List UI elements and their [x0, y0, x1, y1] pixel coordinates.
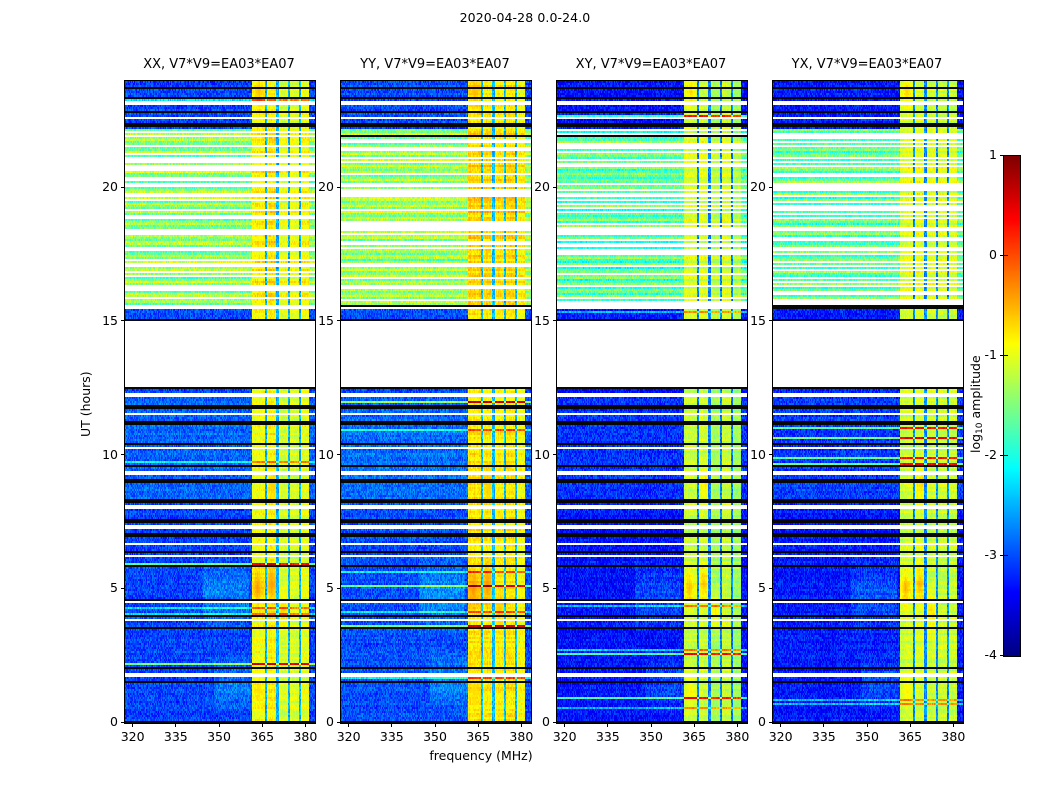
colorbar-gradient — [1004, 156, 1020, 656]
figure-canvas-area: 2020-04-28 0.0-24.0 UT (hours) frequency… — [0, 0, 1050, 800]
y-tick-mark — [553, 454, 557, 455]
y-tick-label: 15 — [292, 313, 334, 328]
panel-title-yx: YX, V7*V9=EA03*EA07 — [772, 57, 962, 72]
y-tick-mark — [337, 588, 341, 589]
y-tick-label: 0 — [292, 714, 334, 729]
x-tick-mark — [953, 723, 954, 727]
y-tick-label: 10 — [292, 447, 334, 462]
y-tick-mark — [337, 454, 341, 455]
y-tick-label: 5 — [508, 580, 550, 595]
figure-suptitle: 2020-04-28 0.0-24.0 — [0, 10, 1050, 25]
y-tick-label: 5 — [292, 580, 334, 595]
waterfall-panel-xx[interactable] — [124, 80, 316, 724]
x-tick-mark — [564, 723, 565, 727]
y-axis-label: UT (hours) — [78, 371, 93, 437]
y-tick-label: 20 — [76, 179, 118, 194]
y-tick-label: 20 — [724, 179, 766, 194]
waterfall-image-xy — [557, 81, 747, 723]
y-tick-mark — [553, 187, 557, 188]
x-tick-mark — [478, 723, 479, 727]
colorbar-tick-label: 1 — [955, 147, 997, 162]
waterfall-panel-yy[interactable] — [340, 80, 532, 724]
colorbar-label-base: 10 — [975, 422, 985, 433]
colorbar-tick-label: -3 — [955, 547, 997, 562]
colorbar-tick-mark — [1000, 455, 1004, 456]
y-tick-mark — [121, 187, 125, 188]
y-tick-mark — [769, 187, 773, 188]
colorbar-tick-mark — [1000, 155, 1004, 156]
x-tick-mark — [132, 723, 133, 727]
panel-title-xx: XX, V7*V9=EA03*EA07 — [124, 57, 314, 72]
x-tick-mark — [219, 723, 220, 727]
x-tick-mark — [867, 723, 868, 727]
y-tick-mark — [337, 722, 341, 723]
colorbar-tick-label: 0 — [955, 247, 997, 262]
y-tick-label: 20 — [508, 179, 550, 194]
colorbar-tick-mark-inner — [1004, 555, 1008, 556]
x-tick-mark — [175, 723, 176, 727]
colorbar-tick-mark-inner — [1004, 355, 1008, 356]
y-tick-mark — [337, 320, 341, 321]
x-tick-mark — [780, 723, 781, 727]
y-tick-mark — [121, 588, 125, 589]
y-tick-mark — [769, 588, 773, 589]
x-tick-mark — [262, 723, 263, 727]
colorbar-label-log: log — [968, 434, 983, 453]
colorbar-tick-mark-inner — [1004, 155, 1008, 156]
y-tick-mark — [769, 320, 773, 321]
y-tick-label: 5 — [76, 580, 118, 595]
y-tick-mark — [121, 320, 125, 321]
colorbar-tick-mark — [1000, 555, 1004, 556]
y-tick-mark — [769, 722, 773, 723]
y-tick-mark — [553, 588, 557, 589]
y-tick-label: 5 — [724, 580, 766, 595]
y-tick-label: 10 — [76, 447, 118, 462]
waterfall-image-yy — [341, 81, 531, 723]
colorbar-tick-mark-inner — [1004, 655, 1008, 656]
y-tick-mark — [769, 454, 773, 455]
y-tick-label: 0 — [724, 714, 766, 729]
colorbar-tick-mark — [1000, 655, 1004, 656]
colorbar-tick-mark — [1000, 355, 1004, 356]
y-tick-mark — [337, 187, 341, 188]
y-tick-mark — [553, 722, 557, 723]
y-tick-label: 15 — [76, 313, 118, 328]
x-tick-mark — [651, 723, 652, 727]
colorbar-label-amplitude: amplitude — [968, 355, 983, 422]
y-tick-label: 10 — [508, 447, 550, 462]
waterfall-image-yx — [773, 81, 963, 723]
x-tick-mark — [435, 723, 436, 727]
x-axis-label: frequency (MHz) — [0, 748, 962, 763]
x-tick-mark — [391, 723, 392, 727]
waterfall-panel-yx[interactable] — [772, 80, 964, 724]
y-tick-mark — [121, 454, 125, 455]
colorbar-tick-mark-inner — [1004, 455, 1008, 456]
waterfall-image-xx — [125, 81, 315, 723]
y-tick-label: 15 — [508, 313, 550, 328]
colorbar-tick-mark — [1000, 255, 1004, 256]
x-tick-mark — [823, 723, 824, 727]
y-tick-label: 20 — [292, 179, 334, 194]
colorbar[interactable] — [1003, 155, 1021, 657]
y-tick-label: 15 — [724, 313, 766, 328]
waterfall-panel-xy[interactable] — [556, 80, 748, 724]
colorbar-tick-label: -4 — [955, 647, 997, 662]
y-tick-label: 10 — [724, 447, 766, 462]
colorbar-tick-mark-inner — [1004, 255, 1008, 256]
y-tick-label: 0 — [508, 714, 550, 729]
x-tick-mark — [348, 723, 349, 727]
colorbar-label: log10 amplitude — [968, 355, 985, 453]
y-tick-mark — [553, 320, 557, 321]
x-tick-mark — [694, 723, 695, 727]
y-tick-mark — [121, 722, 125, 723]
x-tick-label: 380 — [927, 729, 979, 744]
panel-title-yy: YY, V7*V9=EA03*EA07 — [340, 57, 530, 72]
y-tick-label: 0 — [76, 714, 118, 729]
x-tick-mark — [910, 723, 911, 727]
panel-title-xy: XY, V7*V9=EA03*EA07 — [556, 57, 746, 72]
x-tick-mark — [607, 723, 608, 727]
